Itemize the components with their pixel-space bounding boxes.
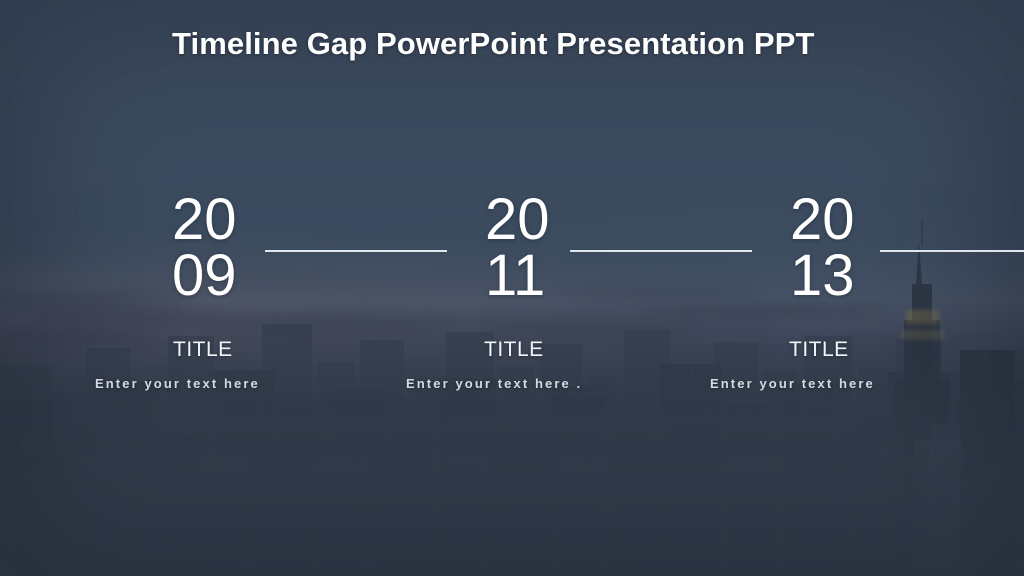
timeline-item-caption: Enter your text here xyxy=(710,376,875,391)
timeline-connector-line xyxy=(265,250,447,252)
timeline-year: 20 13 xyxy=(790,192,855,303)
timeline-item-title: TITLE xyxy=(789,338,849,362)
presentation-slide: Timeline Gap PowerPoint Presentation PPT… xyxy=(0,0,1024,576)
timeline-year-bottom: 11 xyxy=(485,248,550,304)
timeline-year-top: 20 xyxy=(790,192,855,248)
slide-content: Timeline Gap PowerPoint Presentation PPT… xyxy=(0,0,1024,576)
timeline-connector-line xyxy=(570,250,752,252)
timeline: 20 09 TITLE Enter your text here 20 11 T… xyxy=(0,0,1024,576)
timeline-year-bottom: 09 xyxy=(172,248,237,304)
timeline-year: 20 11 xyxy=(485,192,550,303)
timeline-item-caption: Enter your text here xyxy=(95,376,260,391)
timeline-year: 20 09 xyxy=(172,192,237,303)
timeline-year-top: 20 xyxy=(485,192,550,248)
timeline-item-title: TITLE xyxy=(173,338,233,362)
timeline-item-title: TITLE xyxy=(484,338,544,362)
timeline-item-caption: Enter your text here . xyxy=(406,376,582,391)
timeline-year-bottom: 13 xyxy=(790,248,855,304)
timeline-connector-line xyxy=(880,250,1024,252)
timeline-year-top: 20 xyxy=(172,192,237,248)
